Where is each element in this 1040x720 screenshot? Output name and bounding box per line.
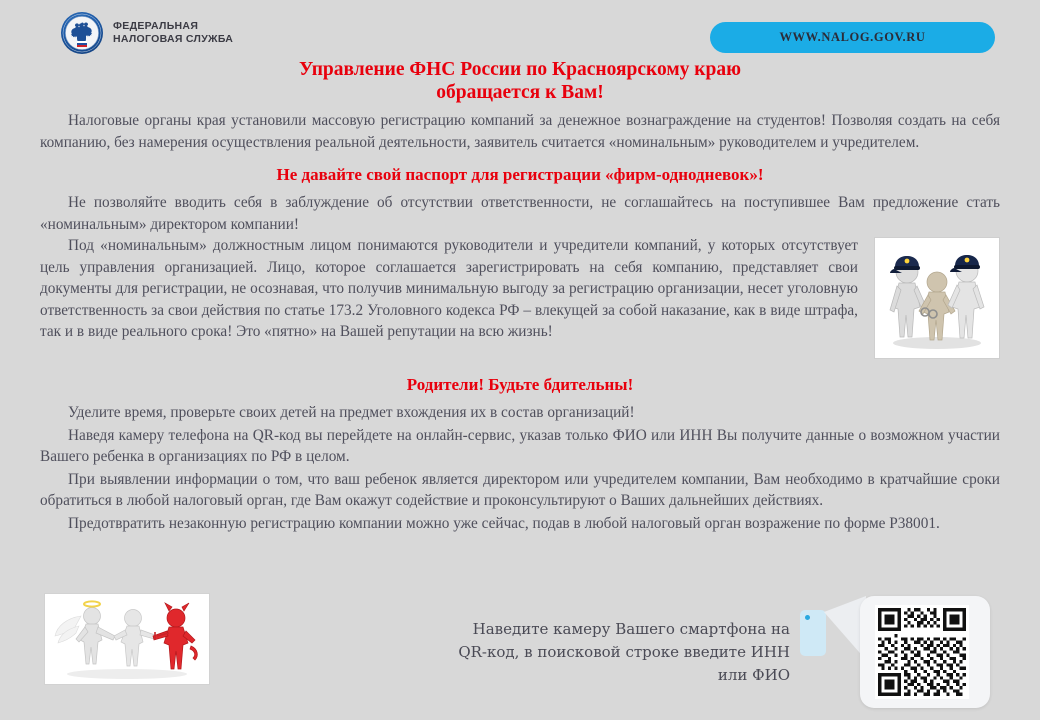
poster-content: Налоговые органы края установили массову… — [40, 110, 1000, 534]
poster-header: ФЕДЕРАЛЬНАЯ НАЛОГОВАЯ СЛУЖБА WWW.NALOG.G… — [0, 0, 1040, 58]
paragraph-nominal-definition: Под «номинальным» должностным лицом пони… — [40, 235, 1000, 343]
qr-code-card[interactable] — [860, 596, 990, 708]
paragraph-intro: Налоговые органы края установили массову… — [40, 110, 1000, 153]
camera-lens-icon — [805, 615, 810, 620]
page-title: Управление ФНС России по Красноярскому к… — [0, 58, 1040, 104]
paragraph-check-children: Уделите время, проверьте своих детей на … — [40, 402, 1000, 424]
paragraph-warning: Не позволяйте вводить себя в заблуждение… — [40, 192, 1000, 235]
poster-root: ФЕДЕРАЛЬНАЯ НАЛОГОВАЯ СЛУЖБА WWW.NALOG.G… — [0, 0, 1040, 720]
qr-instruction-text: Наведите камеру Вашего смартфона на QR-к… — [440, 618, 790, 687]
paragraph-qr-service: Наведя камеру телефона на QR-код вы пере… — [40, 425, 1000, 468]
paragraph-if-found: При выявлении информации о том, что ваш … — [40, 469, 1000, 512]
page-title-line1: Управление ФНС России по Красноярскому к… — [0, 58, 1040, 81]
fns-coat-of-arms-emblem — [60, 11, 104, 55]
website-button[interactable]: WWW.NALOG.GOV.RU — [710, 22, 995, 53]
fns-logo-block: ФЕДЕРАЛЬНАЯ НАЛОГОВАЯ СЛУЖБА — [60, 11, 233, 55]
smartphone-icon — [800, 610, 826, 656]
police-arresting-figure-photo — [874, 237, 1000, 359]
fns-logo-line2: НАЛОГОВАЯ СЛУЖБА — [113, 33, 233, 46]
fns-logo-line1: ФЕДЕРАЛЬНАЯ — [113, 20, 233, 33]
heading-parents: Родители! Будьте бдительны! — [40, 374, 1000, 396]
page-title-line2: обращается к Вам! — [0, 81, 1040, 104]
qr-code[interactable] — [874, 605, 970, 699]
heading-passport: Не давайте свой паспорт для регистрации … — [40, 164, 1000, 186]
nominal-block: Под «номинальным» должностным лицом пони… — [40, 235, 1000, 363]
paragraph-prevent: Предотвратить незаконную регистрацию ком… — [40, 513, 1000, 535]
angel-devil-figures-photo — [44, 593, 210, 685]
fns-logo-text: ФЕДЕРАЛЬНАЯ НАЛОГОВАЯ СЛУЖБА — [113, 20, 233, 46]
poster-footer: Наведите камеру Вашего смартфона на QR-к… — [0, 588, 1040, 720]
